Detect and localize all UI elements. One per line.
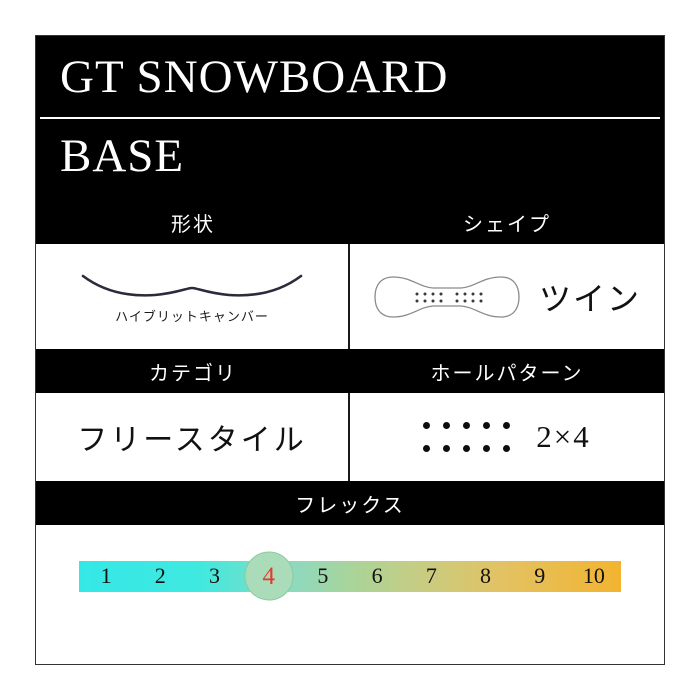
- flex-step-6[interactable]: 6: [350, 561, 404, 592]
- flex-step-5[interactable]: 5: [296, 561, 350, 592]
- flex-step-label: 2: [155, 565, 166, 587]
- flex-step-label: 7: [426, 565, 437, 587]
- dot-row: [423, 422, 510, 429]
- hole-wrap: 2×4: [423, 419, 590, 455]
- flex-step-8[interactable]: 8: [458, 561, 512, 592]
- flex-step-1[interactable]: 1: [79, 561, 133, 592]
- spec-header-row-shape: 形状 シェイプ: [36, 200, 664, 244]
- board-shape-label: ツイン: [539, 274, 641, 320]
- camber-profile-label: ハイブリットキャンバー: [115, 306, 269, 325]
- board-shape-cell: ツイン: [350, 244, 664, 349]
- spec-table: 形状 シェイプ ハイブリットキャンバー: [36, 200, 664, 664]
- dot: [443, 422, 450, 429]
- twin-wrap: ツイン: [373, 273, 641, 321]
- hole-pattern-value: 2×4: [536, 419, 590, 455]
- flex-scale-bar: 1 2 3 4 5 6 7 8: [79, 561, 621, 592]
- flex-step-10[interactable]: 10: [567, 561, 621, 592]
- dot-row: [423, 445, 510, 452]
- flex-step-label: 3: [209, 565, 220, 587]
- spec-data-row-shape: ハイブリットキャンバー: [36, 244, 664, 349]
- column-header-shape: シェイプ: [350, 200, 664, 244]
- column-header-category: カテゴリ: [36, 349, 350, 393]
- camber-profile-cell: ハイブリットキャンバー: [36, 244, 350, 349]
- dot: [443, 445, 450, 452]
- flex-step-label: 5: [317, 565, 328, 587]
- flex-step-3[interactable]: 3: [187, 561, 241, 592]
- flex-step-2[interactable]: 2: [133, 561, 187, 592]
- dot: [463, 422, 470, 429]
- dot: [423, 445, 430, 452]
- dot: [423, 422, 430, 429]
- flex-step-label: 10: [583, 565, 605, 587]
- dot: [503, 445, 510, 452]
- flex-selected-value: 4: [262, 564, 275, 589]
- category-value: フリースタイル: [77, 415, 307, 459]
- snowboard-topdown-icon: [373, 273, 521, 321]
- camber-wrap: ハイブリットキャンバー: [77, 269, 307, 325]
- camber-profile-icon: [77, 269, 307, 305]
- dot: [483, 422, 490, 429]
- flex-step-9[interactable]: 9: [513, 561, 567, 592]
- dot: [503, 422, 510, 429]
- column-header-keijou: 形状: [36, 200, 350, 244]
- flex-step-label: 6: [372, 565, 383, 587]
- flex-step-4-selected[interactable]: 4: [242, 561, 296, 592]
- product-title-line-2: BASE: [36, 119, 664, 200]
- flex-step-label: 8: [480, 565, 491, 587]
- flex-step-7[interactable]: 7: [404, 561, 458, 592]
- spec-header-row-flex: フレックス: [36, 481, 664, 525]
- column-header-hole-pattern: ホールパターン: [350, 349, 664, 393]
- spec-header-row-category: カテゴリ ホールパターン: [36, 349, 664, 393]
- spec-data-row-flex: 1 2 3 4 5 6 7 8: [36, 525, 664, 627]
- insert-dot-grid-icon: [423, 422, 510, 452]
- dot: [463, 445, 470, 452]
- flex-scale-cell: 1 2 3 4 5 6 7 8: [36, 525, 664, 627]
- flex-step-label: 9: [534, 565, 545, 587]
- flex-step-label: 1: [101, 565, 112, 587]
- card-title-block: GT SNOWBOARD BASE: [36, 36, 664, 200]
- dot: [483, 445, 490, 452]
- snowboard-spec-card: GT SNOWBOARD BASE 形状 シェイプ ハイブリットキャンバー: [35, 35, 665, 665]
- hole-pattern-cell: 2×4: [350, 393, 664, 481]
- column-header-flex: フレックス: [36, 481, 664, 525]
- category-cell: フリースタイル: [36, 393, 350, 481]
- product-title-line-1: GT SNOWBOARD: [36, 36, 664, 117]
- spec-data-row-category: フリースタイル: [36, 393, 664, 481]
